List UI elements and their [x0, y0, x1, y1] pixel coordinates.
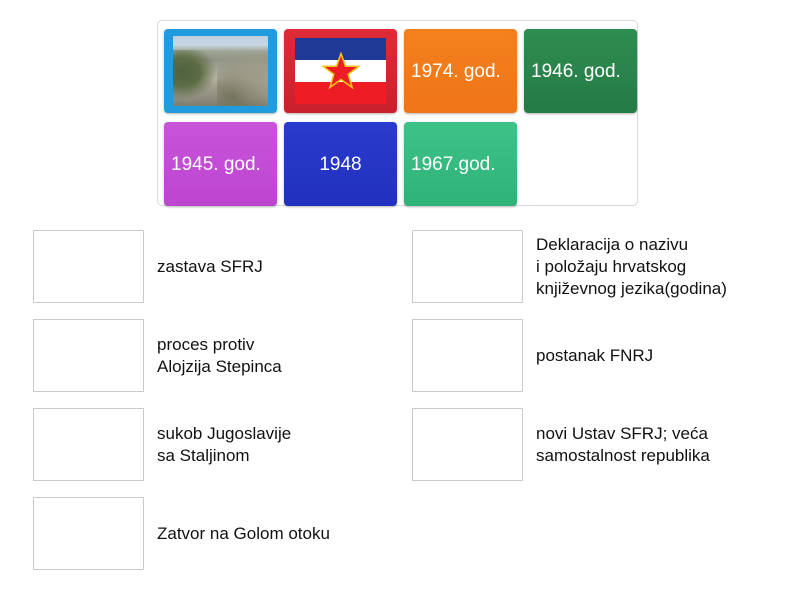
answer-label: novi Ustav SFRJ; veća samostalnost repub…: [523, 423, 710, 467]
tile-grid: 1974. god. 1946. god. 1945. god. 1948 19…: [164, 29, 637, 215]
tile-1946[interactable]: 1946. god.: [524, 29, 637, 113]
dropzone[interactable]: [412, 230, 523, 303]
answer-row: novi Ustav SFRJ; veća samostalnost repub…: [412, 400, 792, 489]
dropzone[interactable]: [33, 319, 144, 392]
red-star-icon: [322, 52, 360, 90]
answer-label: proces protiv Alojzija Stepinca: [144, 334, 282, 378]
tile-label: 1974. god.: [404, 62, 501, 81]
answer-column-left: zastava SFRJ proces protiv Alojzija Step…: [33, 222, 403, 578]
tile-row-1: 1974. god. 1946. god.: [164, 29, 637, 113]
dropzone[interactable]: [33, 408, 144, 481]
tile-tray: 1974. god. 1946. god. 1945. god. 1948 19…: [157, 20, 638, 206]
dropzone[interactable]: [33, 230, 144, 303]
answer-row: proces protiv Alojzija Stepinca: [33, 311, 403, 400]
answer-label: Deklaracija o nazivu i položaju hrvatsko…: [523, 234, 727, 300]
tile-label: 1945. god.: [164, 155, 261, 174]
tile-1974[interactable]: 1974. god.: [404, 29, 517, 113]
answer-row: Deklaracija o nazivu i položaju hrvatsko…: [412, 222, 792, 311]
dropzone[interactable]: [412, 408, 523, 481]
tile-label: 1948: [284, 155, 397, 174]
answer-row: Zatvor na Golom otoku: [33, 489, 403, 578]
tile-label: 1946. god.: [524, 62, 621, 81]
answer-label: zastava SFRJ: [144, 256, 263, 278]
answer-row: zastava SFRJ: [33, 222, 403, 311]
sfrj-flag-icon: [295, 38, 386, 104]
goli-otok-photo-icon: [173, 36, 268, 106]
answer-label: postanak FNRJ: [523, 345, 653, 367]
tile-label: 1967.god.: [404, 155, 496, 174]
tile-row-2: 1945. god. 1948 1967.god.: [164, 122, 637, 206]
answer-label: sukob Jugoslavije sa Staljinom: [144, 423, 291, 467]
tile-1948[interactable]: 1948: [284, 122, 397, 206]
answer-column-right: Deklaracija o nazivu i položaju hrvatsko…: [412, 222, 792, 489]
answer-row: sukob Jugoslavije sa Staljinom: [33, 400, 403, 489]
tile-1945[interactable]: 1945. god.: [164, 122, 277, 206]
tile-sfrj-flag[interactable]: [284, 29, 397, 113]
dropzone[interactable]: [412, 319, 523, 392]
answer-row: postanak FNRJ: [412, 311, 792, 400]
answer-label: Zatvor na Golom otoku: [144, 523, 330, 545]
tile-goli-otok-photo[interactable]: [164, 29, 277, 113]
tile-1967[interactable]: 1967.god.: [404, 122, 517, 206]
dropzone[interactable]: [33, 497, 144, 570]
